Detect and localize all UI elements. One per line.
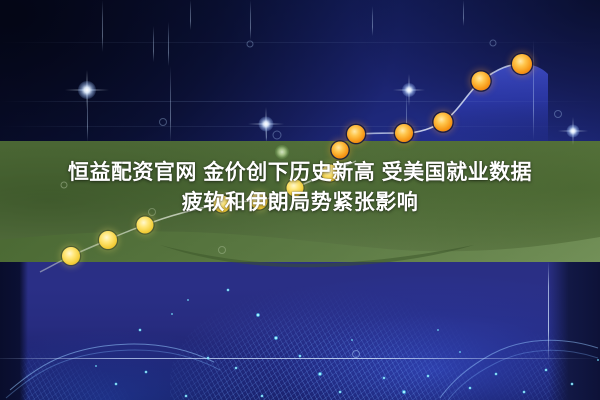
promo-banner: 恒益配资官网 金价创下历史新高 受美国就业数据 疲软和伊朗局势紧张影响 [0,0,600,400]
particle-dot [402,390,406,394]
light-ray [533,40,534,140]
headline-line-2: 疲软和伊朗局势紧张影响 [0,188,600,218]
bokeh-ring-icon [352,350,360,358]
particle-dot [145,371,148,374]
sparkle-star-icon [397,78,421,102]
chart-fill-path [356,64,548,141]
particle-dot [227,289,230,292]
bokeh-ring-icon [247,41,254,48]
particle-dot [339,391,342,394]
headline-line-1: 恒益配资官网 金价创下历史新高 受美国就业数据 [0,158,600,188]
particle-dot [185,395,188,398]
bottom-horizontal-rule [0,358,600,359]
page-title: 恒益配资官网 金价创下历史新高 受美国就业数据 疲软和伊朗局势紧张影响 [0,158,600,218]
bottom-tech-section [0,262,600,400]
bottom-swoosh-lines [0,262,600,400]
bokeh-ring-icon [159,118,167,126]
particle-dot [235,367,238,370]
bottom-vertical-rule [548,262,549,360]
particle-dot [274,336,278,340]
light-ray [190,0,191,30]
chart-marker [472,72,491,91]
light-ray [250,0,251,40]
particle-dot [469,387,472,390]
sparkle-star-icon [253,111,279,137]
bokeh-ring-icon [490,40,497,47]
particle-dot [427,375,430,378]
light-ray [372,6,373,36]
sky-hline-3 [0,126,600,127]
particle-dot [459,351,461,353]
light-ray [168,22,169,66]
particle-dot [437,329,439,331]
light-ray [170,66,171,142]
particle-dot [523,391,526,394]
bokeh-ring-icon [218,246,226,254]
chart-marker [395,124,413,142]
sparkle-star-icon [562,120,584,142]
light-ray [463,0,464,26]
light-ray [102,0,103,52]
particle-dot [545,369,548,372]
particle-dot [299,355,302,358]
particle-dot [256,313,260,317]
particle-dot [495,373,498,376]
chart-marker [512,54,532,74]
particle-dot [351,339,353,341]
particle-dot [597,359,599,361]
light-ray [153,26,154,62]
chart-marker [62,247,80,265]
particle-dot [383,377,386,380]
particle-dot [571,383,574,386]
particle-dot [171,313,173,315]
particle-dot [318,372,322,376]
particle-dot [95,365,97,367]
sky-hline-2 [0,42,600,43]
particle-dot [207,357,210,360]
particle-dot [139,329,142,332]
particle-dot [187,299,189,301]
chart-marker [434,113,453,132]
chart-marker [137,217,154,234]
particle-dot [115,383,118,386]
sparkle-star-icon [72,75,102,105]
chart-marker [332,142,349,159]
chart-marker [347,125,365,143]
particle-dot [261,395,264,398]
bokeh-ring-icon [554,110,562,118]
chart-marker [99,231,117,249]
